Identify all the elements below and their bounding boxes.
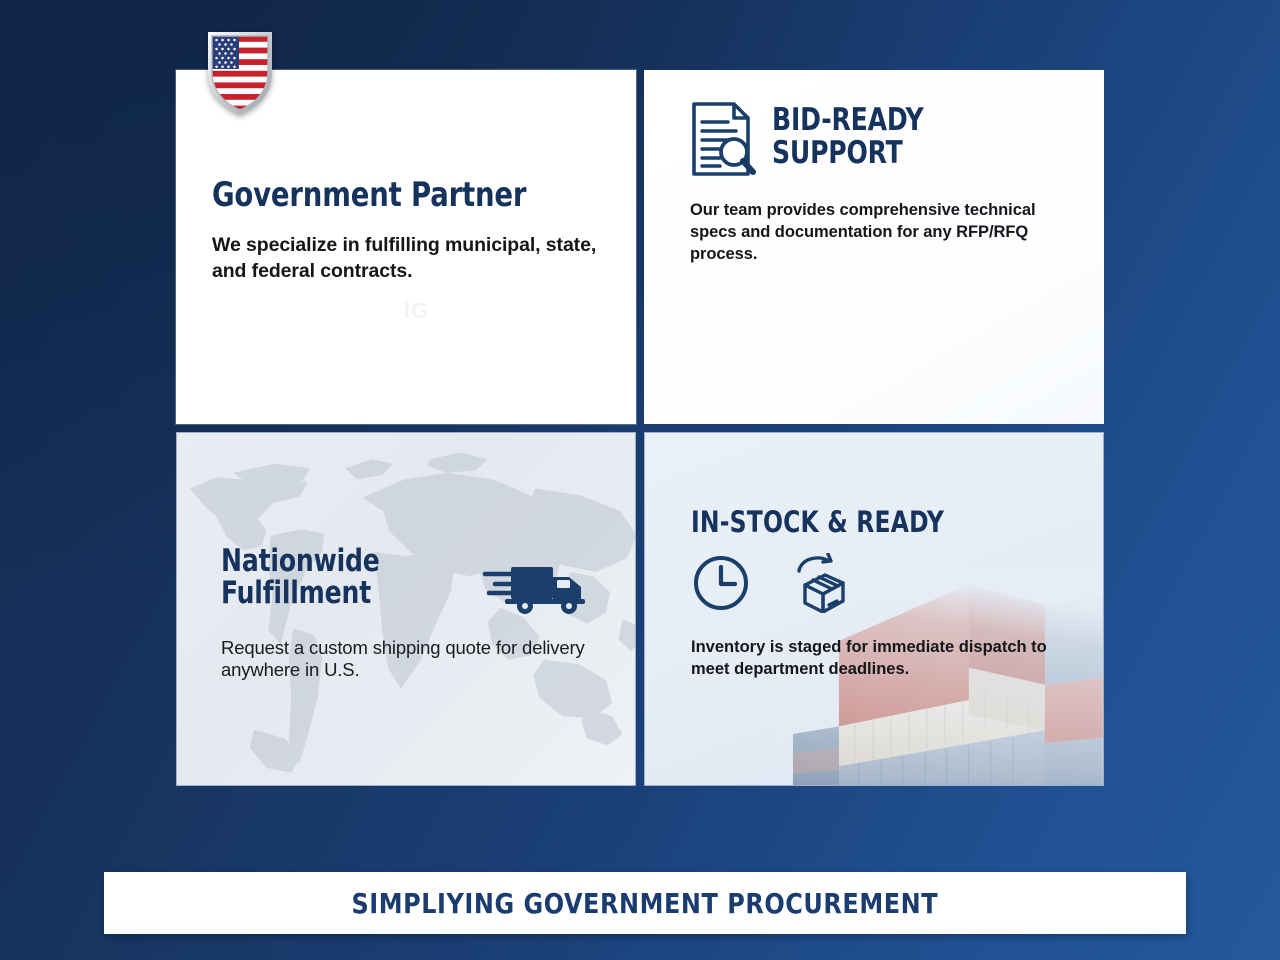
card-government-partner[interactable]: Government Partner We specialize in fulf… <box>176 70 636 424</box>
card-body-government-partner: We specialize in fulfilling municipal, s… <box>212 233 610 285</box>
clock-icon <box>691 553 751 613</box>
card-title-government-partner: Government Partner <box>212 178 570 214</box>
document-magnifier-icon <box>690 100 756 178</box>
bid-title-line-2: SUPPORT <box>772 135 903 171</box>
card-bid-ready-support[interactable]: BID-READY SUPPORT Our team provides comp… <box>644 70 1104 424</box>
card-title-in-stock-and-ready: IN-STOCK & READY <box>691 505 1047 539</box>
card-in-stock-and-ready[interactable]: IN-STOCK & READY <box>644 432 1104 786</box>
faint-watermark-mark: IG <box>404 298 429 324</box>
delivery-truck-icon <box>481 559 593 617</box>
bottom-banner[interactable]: SIMPLIYING GOVERNMENT PROCUREMENT <box>104 872 1186 934</box>
card-icon-row <box>691 553 1087 613</box>
card-body-nationwide-fulfillment: Request a custom shipping quote for deli… <box>221 637 615 681</box>
box-refresh-icon <box>783 553 849 613</box>
card-body-in-stock-and-ready: Inventory is staged for immediate dispat… <box>691 637 1087 681</box>
card-title-bid-ready-support: BID-READY SUPPORT <box>772 90 924 171</box>
card-nationwide-fulfillment[interactable]: Nationwide Fulfillment Request a custom … <box>176 432 636 786</box>
feature-card-grid: Government Partner We specialize in fulf… <box>176 70 1104 786</box>
ship-title-line-1: Nationwide <box>221 543 380 579</box>
ship-title-line-2: Fulfillment <box>221 575 371 611</box>
banner-headline: SIMPLIYING GOVERNMENT PROCUREMENT <box>352 887 939 920</box>
usa-flag-shield-icon <box>206 28 274 116</box>
card-body-bid-ready-support: Our team provides comprehensive technica… <box>690 200 1084 266</box>
bid-title-line-1: BID-READY <box>772 102 924 138</box>
